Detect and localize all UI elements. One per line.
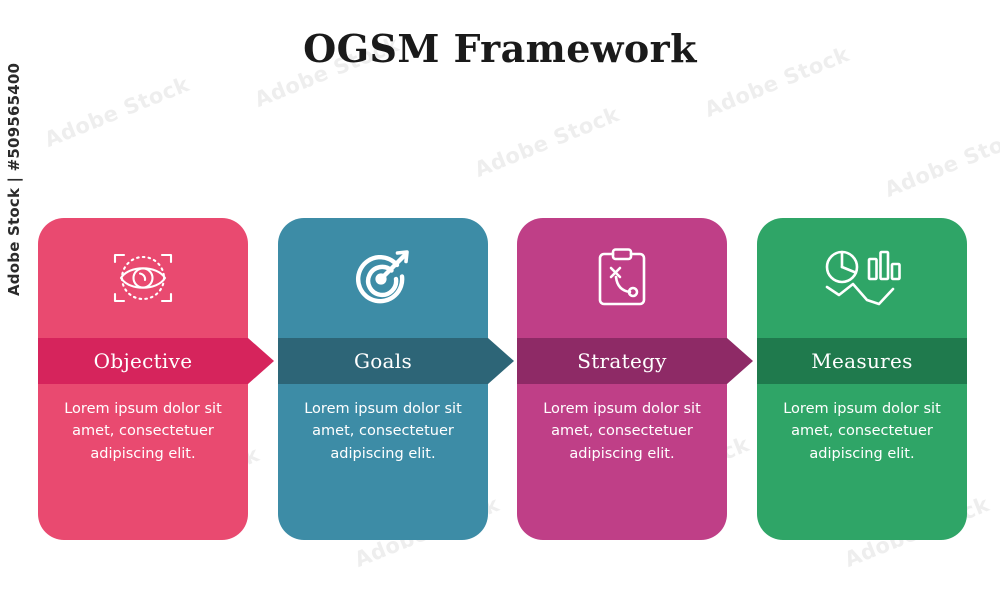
- card-label: Measures: [757, 349, 967, 373]
- card-description: Lorem ipsum dolor sit amet, consectetuer…: [529, 398, 715, 465]
- card-goals[interactable]: Goals Lorem ipsum dolor sit amet, consec…: [278, 218, 488, 540]
- banner-goals: Goals: [278, 338, 488, 384]
- watermark-text: Adobe Stock: [41, 72, 193, 152]
- card-objective[interactable]: Objective Lorem ipsum dolor sit amet, co…: [38, 218, 248, 540]
- banner-measures: Measures: [757, 338, 967, 384]
- card-description: Lorem ipsum dolor sit amet, consectetuer…: [50, 398, 236, 465]
- target-arrow-icon: [278, 218, 488, 338]
- card-description: Lorem ipsum dolor sit amet, consectetuer…: [290, 398, 476, 465]
- arrow-connector-2: [488, 338, 514, 384]
- card-strategy[interactable]: Strategy Lorem ipsum dolor sit amet, con…: [517, 218, 727, 540]
- card-row: Objective Lorem ipsum dolor sit amet, co…: [0, 218, 1000, 540]
- card-label: Strategy: [517, 349, 727, 373]
- banner-objective: Objective: [38, 338, 248, 384]
- watermark-text: Adobe Stock: [881, 122, 1000, 202]
- card-label: Objective: [38, 349, 248, 373]
- arrow-connector-3: [727, 338, 753, 384]
- watermark-text: Adobe Stock: [471, 102, 623, 182]
- analytics-chart-icon: [757, 218, 967, 338]
- banner-strategy: Strategy: [517, 338, 727, 384]
- clipboard-playbook-icon: [517, 218, 727, 338]
- eye-scan-icon: [38, 218, 248, 338]
- infographic-canvas: Adobe Stock Adobe Stock Adobe Stock Adob…: [0, 0, 1000, 600]
- page-title: OGSM Framework: [0, 26, 1000, 71]
- card-label: Goals: [278, 349, 488, 373]
- card-measures[interactable]: Measures Lorem ipsum dolor sit amet, con…: [757, 218, 967, 540]
- card-description: Lorem ipsum dolor sit amet, consectetuer…: [769, 398, 955, 465]
- arrow-connector-1: [248, 338, 274, 384]
